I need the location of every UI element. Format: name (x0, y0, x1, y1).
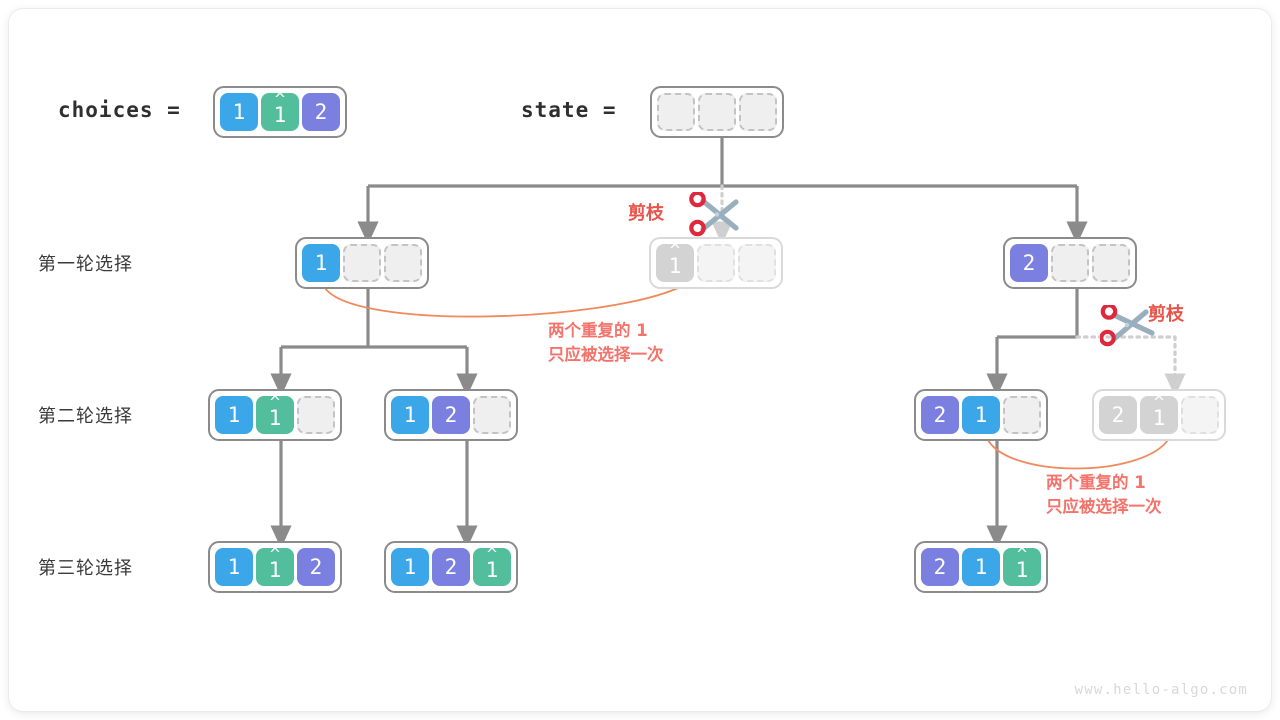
array-cell: 1 (220, 93, 258, 131)
choices-label: choices = (58, 98, 181, 122)
array-cell (738, 244, 776, 282)
array-cell: ^1 (256, 396, 294, 434)
array-cell (297, 396, 335, 434)
array-cell-value: 1 (404, 403, 417, 427)
array-cell: 2 (921, 548, 959, 586)
scissors-icon-1 (686, 192, 748, 238)
array-cell: 1 (215, 548, 253, 586)
duplicate-marker-hat: ^ (261, 92, 299, 109)
array-cell-value: 1 (315, 251, 328, 275)
duplicate-note-1-line1: 两个重复的 1 (548, 319, 664, 343)
node-r2-c[interactable]: 21 (914, 389, 1048, 441)
row-label-3: 第三轮选择 (38, 554, 133, 580)
array-cell-value: 2 (315, 100, 328, 124)
array-cell (1003, 396, 1041, 434)
node-r2-b[interactable]: 12 (384, 389, 518, 441)
duplicate-note-2-line2: 只应被选择一次 (1046, 495, 1162, 519)
duplicate-marker-hat: ^ (656, 243, 694, 260)
prune-label-2: 剪枝 (1148, 300, 1184, 326)
duplicate-marker-hat: ^ (256, 547, 294, 564)
node-r2-d-pruned[interactable]: 2^1 (1092, 389, 1226, 441)
array-cell (657, 93, 695, 131)
array-cell: 2 (1010, 244, 1048, 282)
array-cell: 2 (297, 548, 335, 586)
array-cell: ^1 (261, 93, 299, 131)
array-cell: 1 (962, 396, 1000, 434)
array-cell-value: 1 (228, 403, 241, 427)
array-cell: ^1 (473, 548, 511, 586)
array-cell-value: 2 (1023, 251, 1036, 275)
array-cell (698, 93, 736, 131)
node-r1-right[interactable]: 2 (1003, 237, 1137, 289)
array-cell: 2 (302, 93, 340, 131)
duplicate-note-1: 两个重复的 1 只应被选择一次 (548, 319, 664, 367)
node-r3-c[interactable]: 21^1 (914, 541, 1048, 593)
array-cell: ^1 (1140, 396, 1178, 434)
node-r2-a[interactable]: 1^1 (208, 389, 342, 441)
array-cell-value: 2 (1112, 403, 1125, 427)
node-r1-left[interactable]: 1 (295, 237, 429, 289)
duplicate-note-2: 两个重复的 1 只应被选择一次 (1046, 471, 1162, 519)
array-cell-value: 1 (404, 555, 417, 579)
array-cell-value: 1 (975, 555, 988, 579)
array-cell: 1 (962, 548, 1000, 586)
node-r3-b[interactable]: 12^1 (384, 541, 518, 593)
prune-label-1: 剪枝 (628, 199, 664, 225)
array-cell: 2 (921, 396, 959, 434)
array-cell: 1 (215, 396, 253, 434)
array-cell-value: 2 (445, 555, 458, 579)
duplicate-marker-hat: ^ (256, 395, 294, 412)
array-cell-value: 2 (445, 403, 458, 427)
duplicate-marker-hat: ^ (473, 547, 511, 564)
array-cell (473, 396, 511, 434)
array-cell (1051, 244, 1089, 282)
state-label: state = (521, 98, 617, 122)
duplicate-note-1-line2: 只应被选择一次 (548, 343, 664, 367)
array-cell: 2 (432, 548, 470, 586)
array-cell-value: 2 (934, 555, 947, 579)
state-array (650, 86, 784, 138)
array-cell (697, 244, 735, 282)
array-cell: ^1 (1003, 548, 1041, 586)
array-cell (1092, 244, 1130, 282)
duplicate-marker-hat: ^ (1003, 547, 1041, 564)
array-cell-value: 2 (310, 555, 323, 579)
array-cell (384, 244, 422, 282)
duplicate-marker-hat: ^ (1140, 395, 1178, 412)
array-cell-value: 1 (975, 403, 988, 427)
array-cell: 2 (432, 396, 470, 434)
array-cell (739, 93, 777, 131)
array-cell-value: 2 (934, 403, 947, 427)
node-r1-mid-pruned[interactable]: ^1 (649, 237, 783, 289)
array-cell: 1 (391, 548, 429, 586)
watermark: www.hello-algo.com (1075, 682, 1248, 698)
array-cell: ^1 (656, 244, 694, 282)
array-cell-value: 1 (228, 555, 241, 579)
array-cell-value: 1 (233, 100, 246, 124)
array-cell: 1 (302, 244, 340, 282)
row-label-1: 第一轮选择 (38, 250, 133, 276)
array-cell (1181, 396, 1219, 434)
array-cell: 1 (391, 396, 429, 434)
array-cell (343, 244, 381, 282)
row-label-2: 第二轮选择 (38, 402, 133, 428)
duplicate-note-2-line1: 两个重复的 1 (1046, 471, 1162, 495)
choices-array: 1^12 (213, 86, 347, 138)
node-r3-a[interactable]: 1^12 (208, 541, 342, 593)
diagram-canvas: choices = state = 1^12 第一轮选择 第二轮选择 第三轮选择… (0, 0, 1280, 720)
array-cell: ^1 (256, 548, 294, 586)
array-cell: 2 (1099, 396, 1137, 434)
